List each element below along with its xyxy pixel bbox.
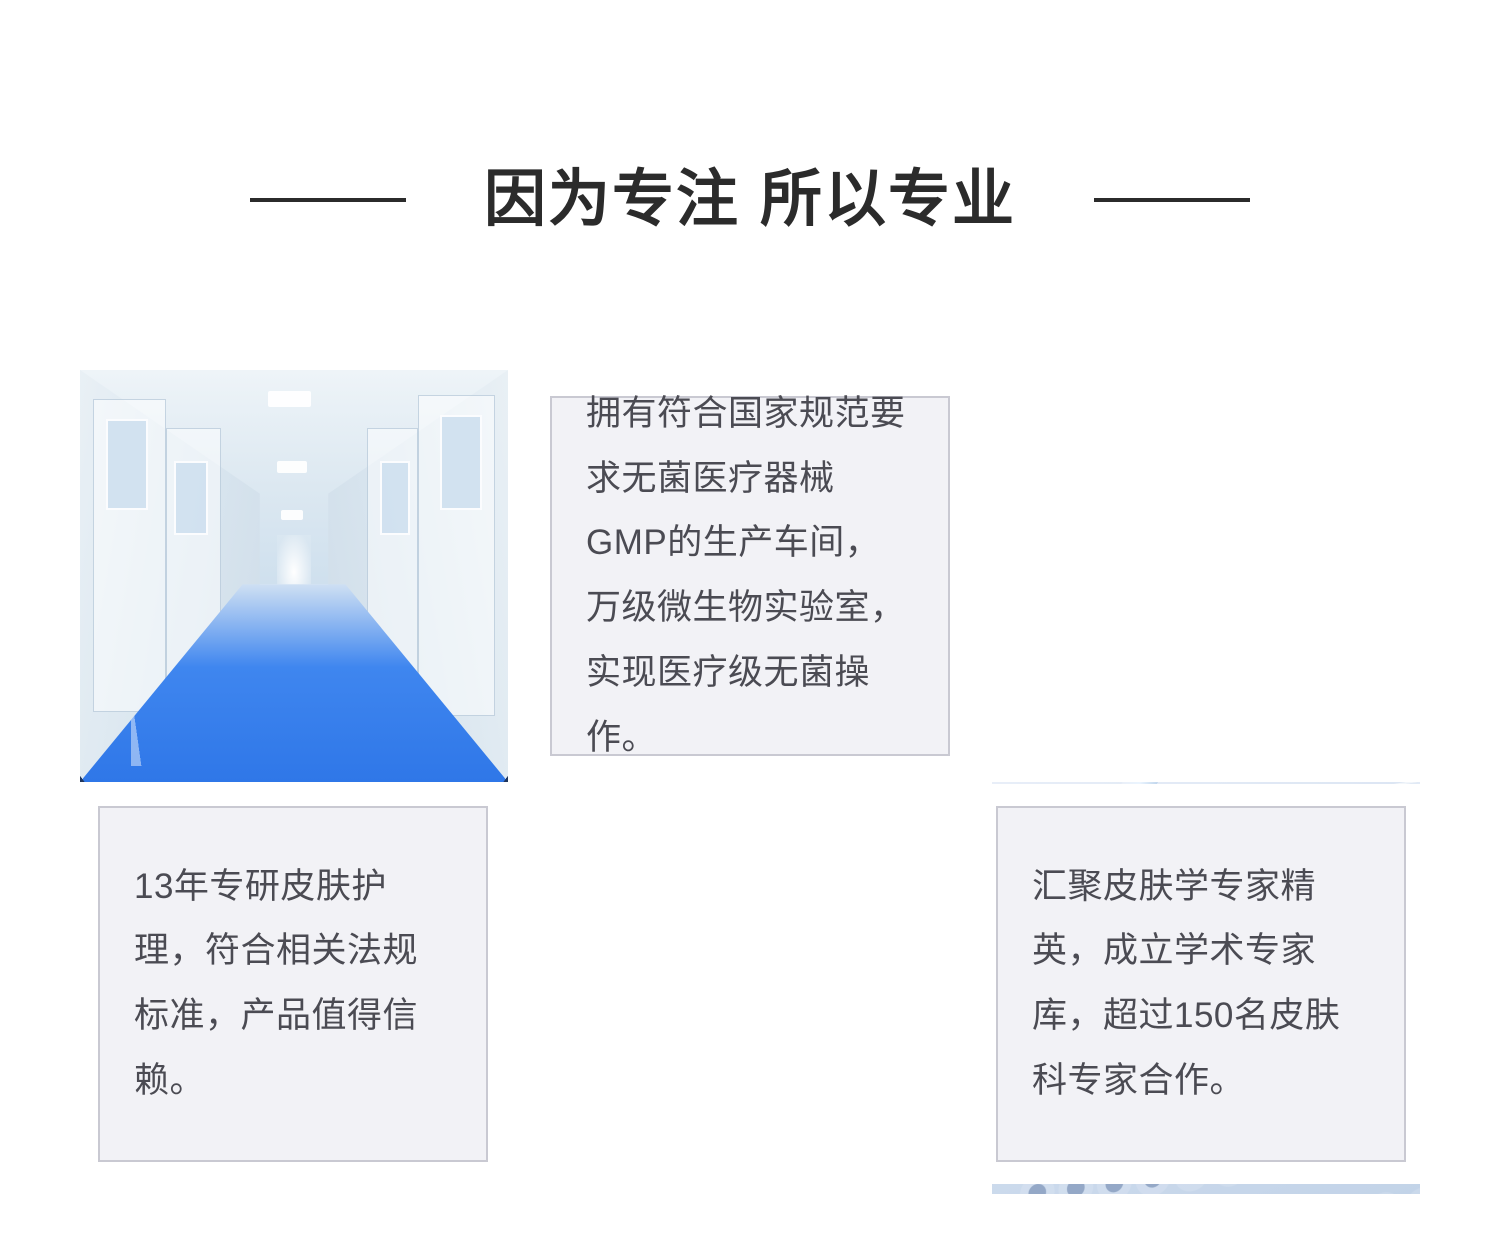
marketing-page: 因为专注所以专业 拥有符合国家规范要求无菌医疗器械GMP的生产车间，万级微生物实… xyxy=(0,0,1500,1243)
decorative-rule-right xyxy=(1094,198,1250,202)
dermatology-experts-text-card: 汇聚皮肤学专家精英，成立学术专家库，超过150名皮肤科专家合作。 xyxy=(996,806,1406,1162)
floor-edge-left xyxy=(80,592,226,782)
page-title-part2: 所以专业 xyxy=(760,165,1016,234)
gmp-card-text: 拥有符合国家规范要求无菌医疗器械GMP的生产车间，万级微生物实验室，实现医疗级无… xyxy=(586,382,914,771)
page-title: 因为专注所以专业 xyxy=(484,169,1016,231)
ceiling-light-icon xyxy=(277,461,307,473)
research-years-text-card: 13年专研皮肤护理，符合相关法规标准，产品值得信赖。 xyxy=(98,806,488,1162)
cleanroom-corridor-photo xyxy=(80,370,508,782)
research-card-text: 13年专研皮肤护理，符合相关法规标准，产品值得信赖。 xyxy=(134,855,452,1114)
floor-edge-right xyxy=(362,592,508,782)
page-title-part1: 因为专注 xyxy=(484,165,740,234)
ceiling-light-icon xyxy=(268,391,311,407)
door-window xyxy=(440,415,483,510)
decorative-rule-left xyxy=(250,198,406,202)
ceiling-light-icon xyxy=(281,510,302,520)
gmp-text-card: 拥有符合国家规范要求无菌医疗器械GMP的生产车间，万级微生物实验室，实现医疗级无… xyxy=(550,396,950,756)
research-card-cell: 13年专研皮肤护理，符合相关法规标准，产品值得信赖。 xyxy=(80,784,508,1184)
door-window xyxy=(106,419,149,510)
experts-card-cell: 汇聚皮肤学专家精英，成立学术专家库，超过150名皮肤科专家合作。 xyxy=(992,784,1420,1184)
page-header: 因为专注所以专业 xyxy=(0,150,1500,250)
gmp-card-cell: 拥有符合国家规范要求无菌医疗器械GMP的生产车间，万级微生物实验室，实现医疗级无… xyxy=(522,370,978,782)
door-window xyxy=(380,461,410,535)
door-window xyxy=(174,461,208,535)
experts-card-text: 汇聚皮肤学专家精英，成立学术专家库，超过150名皮肤科专家合作。 xyxy=(1032,855,1370,1114)
